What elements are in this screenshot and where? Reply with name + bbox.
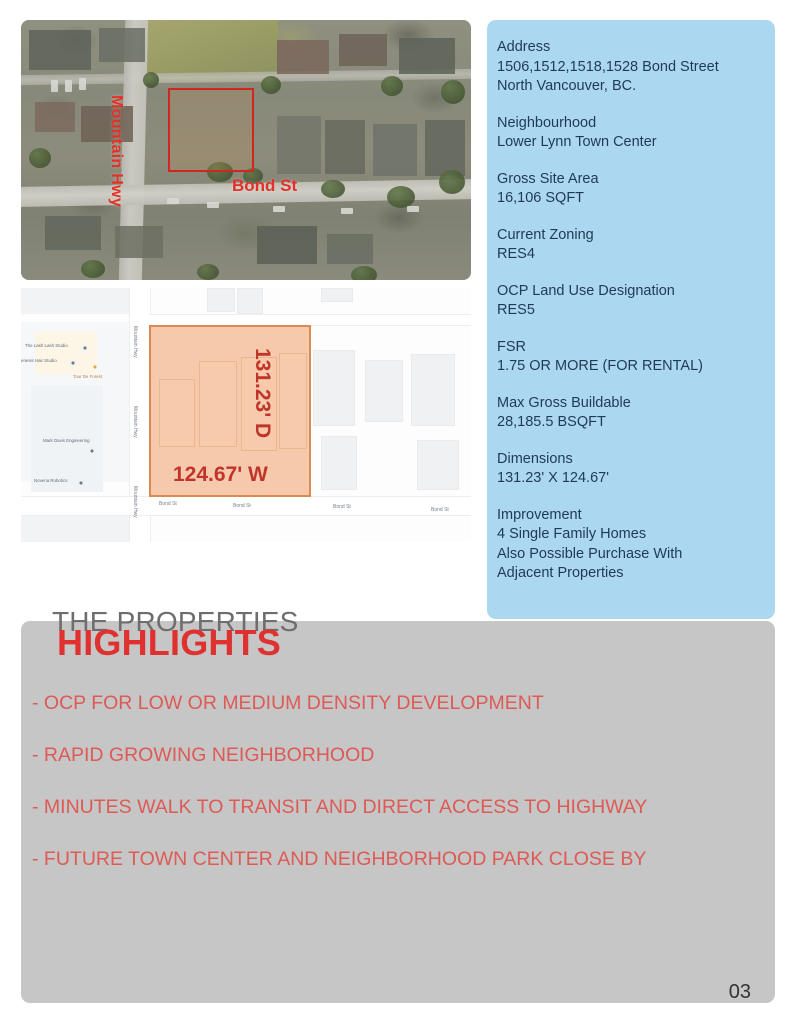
info-value: Lower Lynn Town Center bbox=[497, 133, 775, 153]
map-pin[interactable] bbox=[70, 360, 76, 366]
map-pin[interactable] bbox=[82, 345, 88, 351]
map-pin[interactable] bbox=[89, 448, 95, 454]
aerial-rooftop bbox=[327, 234, 373, 264]
info-group-address: Address 1506,1512,1518,1528 Bond Street … bbox=[497, 38, 775, 97]
aerial-rooftop bbox=[45, 216, 101, 250]
aerial-rooftop bbox=[373, 124, 417, 176]
property-info-panel: Address 1506,1512,1518,1528 Bond Street … bbox=[487, 20, 775, 619]
map-poi-label: Novena Robotics bbox=[34, 478, 67, 483]
info-group-current-zoning: Current Zoning RES4 bbox=[497, 226, 775, 265]
info-value: Adjacent Properties bbox=[497, 564, 775, 584]
map-poi-label: Tour De Forest bbox=[73, 374, 102, 379]
aerial-vehicle bbox=[167, 198, 179, 204]
info-group-gross-site-area: Gross Site Area 16,106 SQFT bbox=[497, 170, 775, 209]
map-building bbox=[207, 288, 235, 312]
highlights-title: HIGHLIGHTS bbox=[57, 625, 281, 661]
aerial-tree bbox=[387, 186, 415, 208]
map-poi-label: The Lash Lash Studio bbox=[25, 343, 68, 348]
info-group-improvement: Improvement 4 Single Family Homes Also P… bbox=[497, 506, 775, 584]
aerial-tree bbox=[351, 266, 377, 280]
dimension-label-depth: 131.23' D bbox=[250, 348, 274, 438]
aerial-tree bbox=[261, 76, 281, 94]
info-value: 1.75 OR MORE (FOR RENTAL) bbox=[497, 357, 775, 377]
info-value: 1506,1512,1518,1528 Bond Street bbox=[497, 58, 775, 78]
aerial-parcel-outline bbox=[168, 88, 254, 172]
info-label: Max Gross Buildable bbox=[497, 394, 775, 414]
aerial-rooftop bbox=[99, 28, 145, 62]
info-label: Improvement bbox=[497, 506, 775, 526]
dimension-label-width: 124.67' W bbox=[173, 463, 268, 487]
map-building bbox=[417, 440, 459, 490]
info-value: 131.23' X 124.67' bbox=[497, 469, 775, 489]
info-label: Gross Site Area bbox=[497, 170, 775, 190]
map-poi-label: Mark Davis Engineering bbox=[43, 438, 90, 443]
aerial-vehicle bbox=[273, 206, 285, 212]
info-label: FSR bbox=[497, 338, 775, 358]
aerial-rooftop bbox=[29, 30, 91, 70]
map-street-label-mountain-hwy: Mountain Hwy bbox=[132, 406, 138, 438]
aerial-photo: Mountain Hwy Bond St bbox=[21, 20, 471, 280]
info-label: Dimensions bbox=[497, 450, 775, 470]
highlight-item: - RAPID GROWING NEIGHBORHOOD bbox=[32, 746, 752, 766]
aerial-vehicle bbox=[65, 80, 72, 92]
aerial-tree bbox=[143, 72, 159, 88]
aerial-vehicle bbox=[207, 202, 219, 208]
map-street-label-mountain-hwy: Mountain Hwy bbox=[132, 486, 138, 518]
map-block bbox=[21, 288, 129, 314]
aerial-rooftop bbox=[277, 116, 321, 174]
aerial-label-mountain-hwy: Mountain Hwy bbox=[107, 95, 125, 207]
parcel-lot bbox=[279, 353, 307, 449]
highlights-list: - OCP FOR LOW OR MEDIUM DENSITY DEVELOPM… bbox=[32, 694, 752, 902]
map-building bbox=[365, 360, 403, 422]
info-value: North Vancouver, BC. bbox=[497, 77, 775, 97]
info-value: 28,185.5 BSQFT bbox=[497, 413, 775, 433]
page-number: 03 bbox=[729, 981, 751, 1004]
info-value: RES4 bbox=[497, 245, 775, 265]
map-pin-featured[interactable] bbox=[92, 364, 98, 370]
map-street-label-bond-st: Bond St bbox=[159, 501, 177, 507]
aerial-rooftop bbox=[425, 120, 465, 176]
map-pin[interactable] bbox=[78, 480, 84, 486]
map-building bbox=[321, 288, 353, 302]
aerial-rooftop bbox=[257, 226, 317, 264]
aerial-vehicle bbox=[79, 78, 86, 90]
aerial-tree bbox=[381, 76, 403, 96]
info-value: RES5 bbox=[497, 301, 775, 321]
map-building bbox=[237, 288, 263, 314]
highlight-item: - OCP FOR LOW OR MEDIUM DENSITY DEVELOPM… bbox=[32, 694, 752, 714]
info-value: 4 Single Family Homes bbox=[497, 525, 775, 545]
aerial-rooftop bbox=[339, 34, 387, 66]
aerial-rooftop bbox=[115, 226, 163, 258]
map-building bbox=[313, 350, 355, 426]
parcel-lot bbox=[199, 361, 237, 447]
map-poi-label: enesis Hair Studio bbox=[21, 358, 57, 363]
highlight-item: - MINUTES WALK TO TRANSIT AND DIRECT ACC… bbox=[32, 798, 752, 818]
info-value: 16,106 SQFT bbox=[497, 189, 775, 209]
info-group-max-gross-buildable: Max Gross Buildable 28,185.5 BSQFT bbox=[497, 394, 775, 433]
map-building bbox=[411, 354, 455, 426]
info-group-dimensions: Dimensions 131.23' X 124.67' bbox=[497, 450, 775, 489]
aerial-vehicle bbox=[407, 206, 419, 212]
map-highlight-area bbox=[35, 332, 97, 374]
info-value: Also Possible Purchase With bbox=[497, 545, 775, 565]
info-group-neighbourhood: Neighbourhood Lower Lynn Town Center bbox=[497, 114, 775, 153]
info-label: Neighbourhood bbox=[497, 114, 775, 134]
aerial-tree bbox=[29, 148, 51, 168]
map-street-label-bond-st: Bond St bbox=[233, 503, 251, 509]
map-street-label-bond-st: Bond St bbox=[333, 504, 351, 510]
highlight-item: - FUTURE TOWN CENTER AND NEIGHBORHOOD PA… bbox=[32, 850, 752, 870]
aerial-tree bbox=[441, 80, 465, 104]
aerial-vehicle bbox=[341, 208, 353, 214]
aerial-label-bond-st: Bond St bbox=[232, 176, 297, 196]
aerial-tree bbox=[81, 260, 105, 278]
parcel-lot bbox=[159, 379, 195, 447]
info-label: Current Zoning bbox=[497, 226, 775, 246]
info-label: Address bbox=[497, 38, 775, 58]
map-street-label-mountain-hwy: Mountain Hwy bbox=[132, 326, 138, 358]
map-street-label-bond-st: Bond St bbox=[431, 507, 449, 513]
aerial-rooftop bbox=[325, 120, 365, 174]
aerial-tree bbox=[197, 264, 219, 280]
site-plan[interactable]: The Lash Lash Studio enesis Hair Studio … bbox=[21, 288, 471, 542]
info-label: OCP Land Use Designation bbox=[497, 282, 775, 302]
info-group-fsr: FSR 1.75 OR MORE (FOR RENTAL) bbox=[497, 338, 775, 377]
aerial-tree bbox=[439, 170, 465, 194]
aerial-vehicle bbox=[51, 80, 58, 92]
map-building bbox=[321, 436, 357, 490]
aerial-rooftop bbox=[35, 102, 75, 132]
aerial-rooftop bbox=[277, 40, 329, 74]
info-group-ocp-land-use: OCP Land Use Designation RES5 bbox=[497, 282, 775, 321]
aerial-rooftop bbox=[399, 38, 455, 74]
aerial-tree bbox=[321, 180, 345, 198]
